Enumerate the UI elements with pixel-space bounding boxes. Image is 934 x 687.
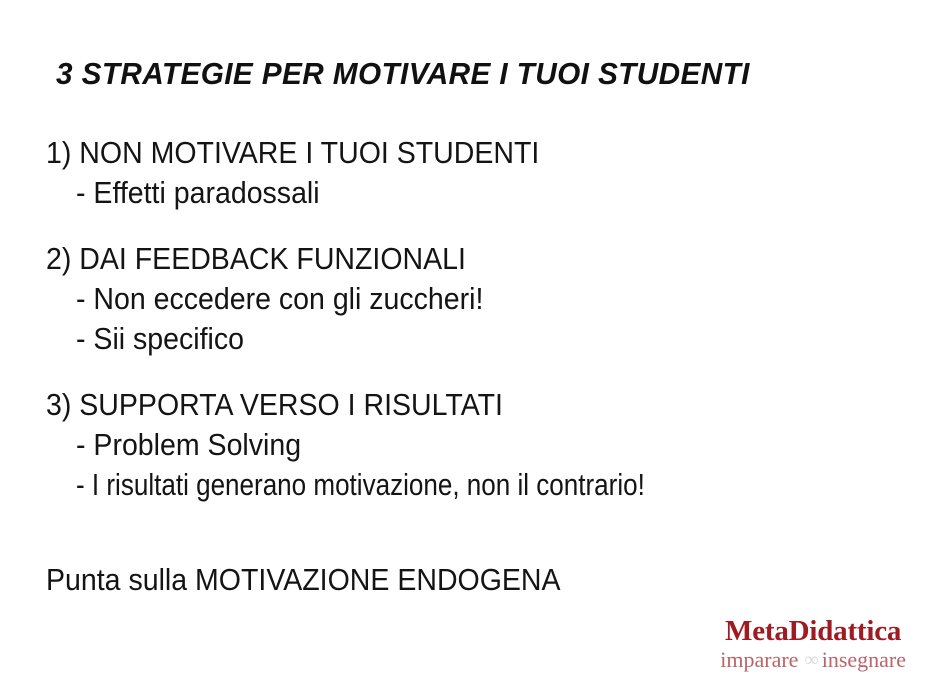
strategy-bullet-3-1: - Problem Solving (76, 425, 821, 465)
strategy-heading-1: 1) NON MOTIVARE I TUOI STUDENTI (46, 133, 819, 173)
strategy-heading-3: 3) SUPPORTA VERSO I RISULTATI (46, 385, 819, 425)
closing-statement: Punta sulla MOTIVAZIONE ENDOGENA (46, 560, 561, 600)
strategy-bullet-3-2: - I risultati generano motivazione, non … (76, 465, 756, 505)
logo-tagline: imparare ∞ insegnare (720, 649, 906, 671)
strategy-bullet-2-1: - Non eccedere con gli zuccheri! (76, 279, 821, 319)
strategy-bullet-2-2: - Sii specifico (76, 319, 821, 359)
strategy-group-3: 3) SUPPORTA VERSO I RISULTATI - Problem … (46, 385, 886, 505)
logo-tagline-left: imparare (720, 649, 798, 671)
infinity-ornament-icon: ∞ (804, 650, 815, 670)
slide-canvas: 3 STRATEGIE PER MOTIVARE I TUOI STUDENTI… (0, 0, 934, 687)
strategy-group-1: 1) NON MOTIVARE I TUOI STUDENTI - Effett… (46, 133, 886, 213)
metadidattica-logo: MetaDidattica imparare ∞ insegnare (720, 617, 906, 671)
strategy-group-2: 2) DAI FEEDBACK FUNZIONALI - Non ecceder… (46, 239, 886, 359)
strategy-bullet-1-1: - Effetti paradossali (76, 173, 821, 213)
logo-tagline-right: insegnare (822, 649, 906, 671)
page-title: 3 STRATEGIE PER MOTIVARE I TUOI STUDENTI (56, 56, 750, 92)
slide-body: 1) NON MOTIVARE I TUOI STUDENTI - Effett… (46, 133, 886, 505)
strategy-heading-2: 2) DAI FEEDBACK FUNZIONALI (46, 239, 819, 279)
logo-wordmark: MetaDidattica (720, 617, 906, 646)
